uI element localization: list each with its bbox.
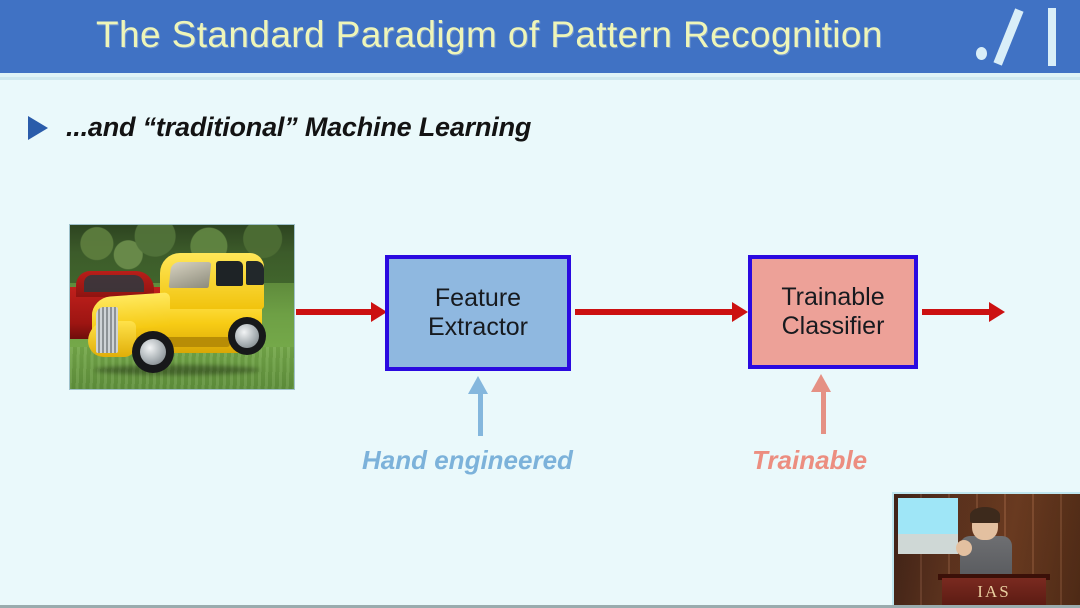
input-image-car-photo (70, 225, 294, 389)
vertical-bar-icon (1048, 8, 1056, 66)
backslash-icon (993, 8, 1023, 65)
arrow-classifier-output (922, 309, 992, 315)
photo-side-window (216, 261, 243, 286)
hand-engineered-arrow-head-icon (468, 376, 488, 394)
video-projection-screen-lower (898, 534, 958, 554)
photo-windshield (169, 262, 212, 288)
trainable-arrow-stem (821, 390, 826, 434)
feature-extractor-box[interactable]: Feature Extractor (385, 255, 571, 371)
arrow-feature-extractor-to-classifier (575, 309, 735, 315)
slide-canvas: The Standard Paradigm of Pattern Recogni… (0, 0, 1080, 608)
speaker-video-overlay[interactable]: IAS (892, 492, 1080, 605)
bullet-text: ...and “traditional” Machine Learning (66, 112, 531, 143)
hand-engineered-label: Hand engineered (362, 445, 573, 476)
trainable-arrow-head-icon (811, 374, 831, 392)
page-title: The Standard Paradigm of Pattern Recogni… (96, 14, 883, 56)
trainable-classifier-box[interactable]: Trainable Classifier (748, 255, 918, 369)
photo-red-car-window (84, 275, 144, 292)
video-projection-screen (898, 498, 958, 536)
title-banner: The Standard Paradigm of Pattern Recogni… (0, 0, 1080, 80)
video-speaker-hand (956, 540, 972, 556)
feature-extractor-label-line2: Extractor (428, 313, 528, 343)
photo-front-hubcap (140, 339, 166, 365)
photo-rear-window (246, 261, 264, 285)
triangle-bullet-icon (28, 116, 48, 140)
arrow-image-to-feature-extractor (296, 309, 374, 315)
logo (952, 0, 1072, 78)
feature-extractor-label-line1: Feature (435, 284, 521, 314)
photo-car-shadow (94, 365, 260, 375)
dot-icon (976, 47, 987, 60)
video-podium-label: IAS (942, 582, 1046, 602)
hand-engineered-arrow-stem (478, 392, 483, 436)
trainable-classifier-label-line2: Classifier (782, 312, 885, 342)
trainable-classifier-label-line1: Trainable (781, 283, 884, 313)
photo-grille (96, 307, 118, 353)
trainable-label: Trainable (752, 445, 867, 476)
video-speaker-hair (970, 507, 1000, 523)
photo-rear-hubcap (235, 324, 259, 348)
bullet-row: ...and “traditional” Machine Learning (28, 112, 531, 143)
